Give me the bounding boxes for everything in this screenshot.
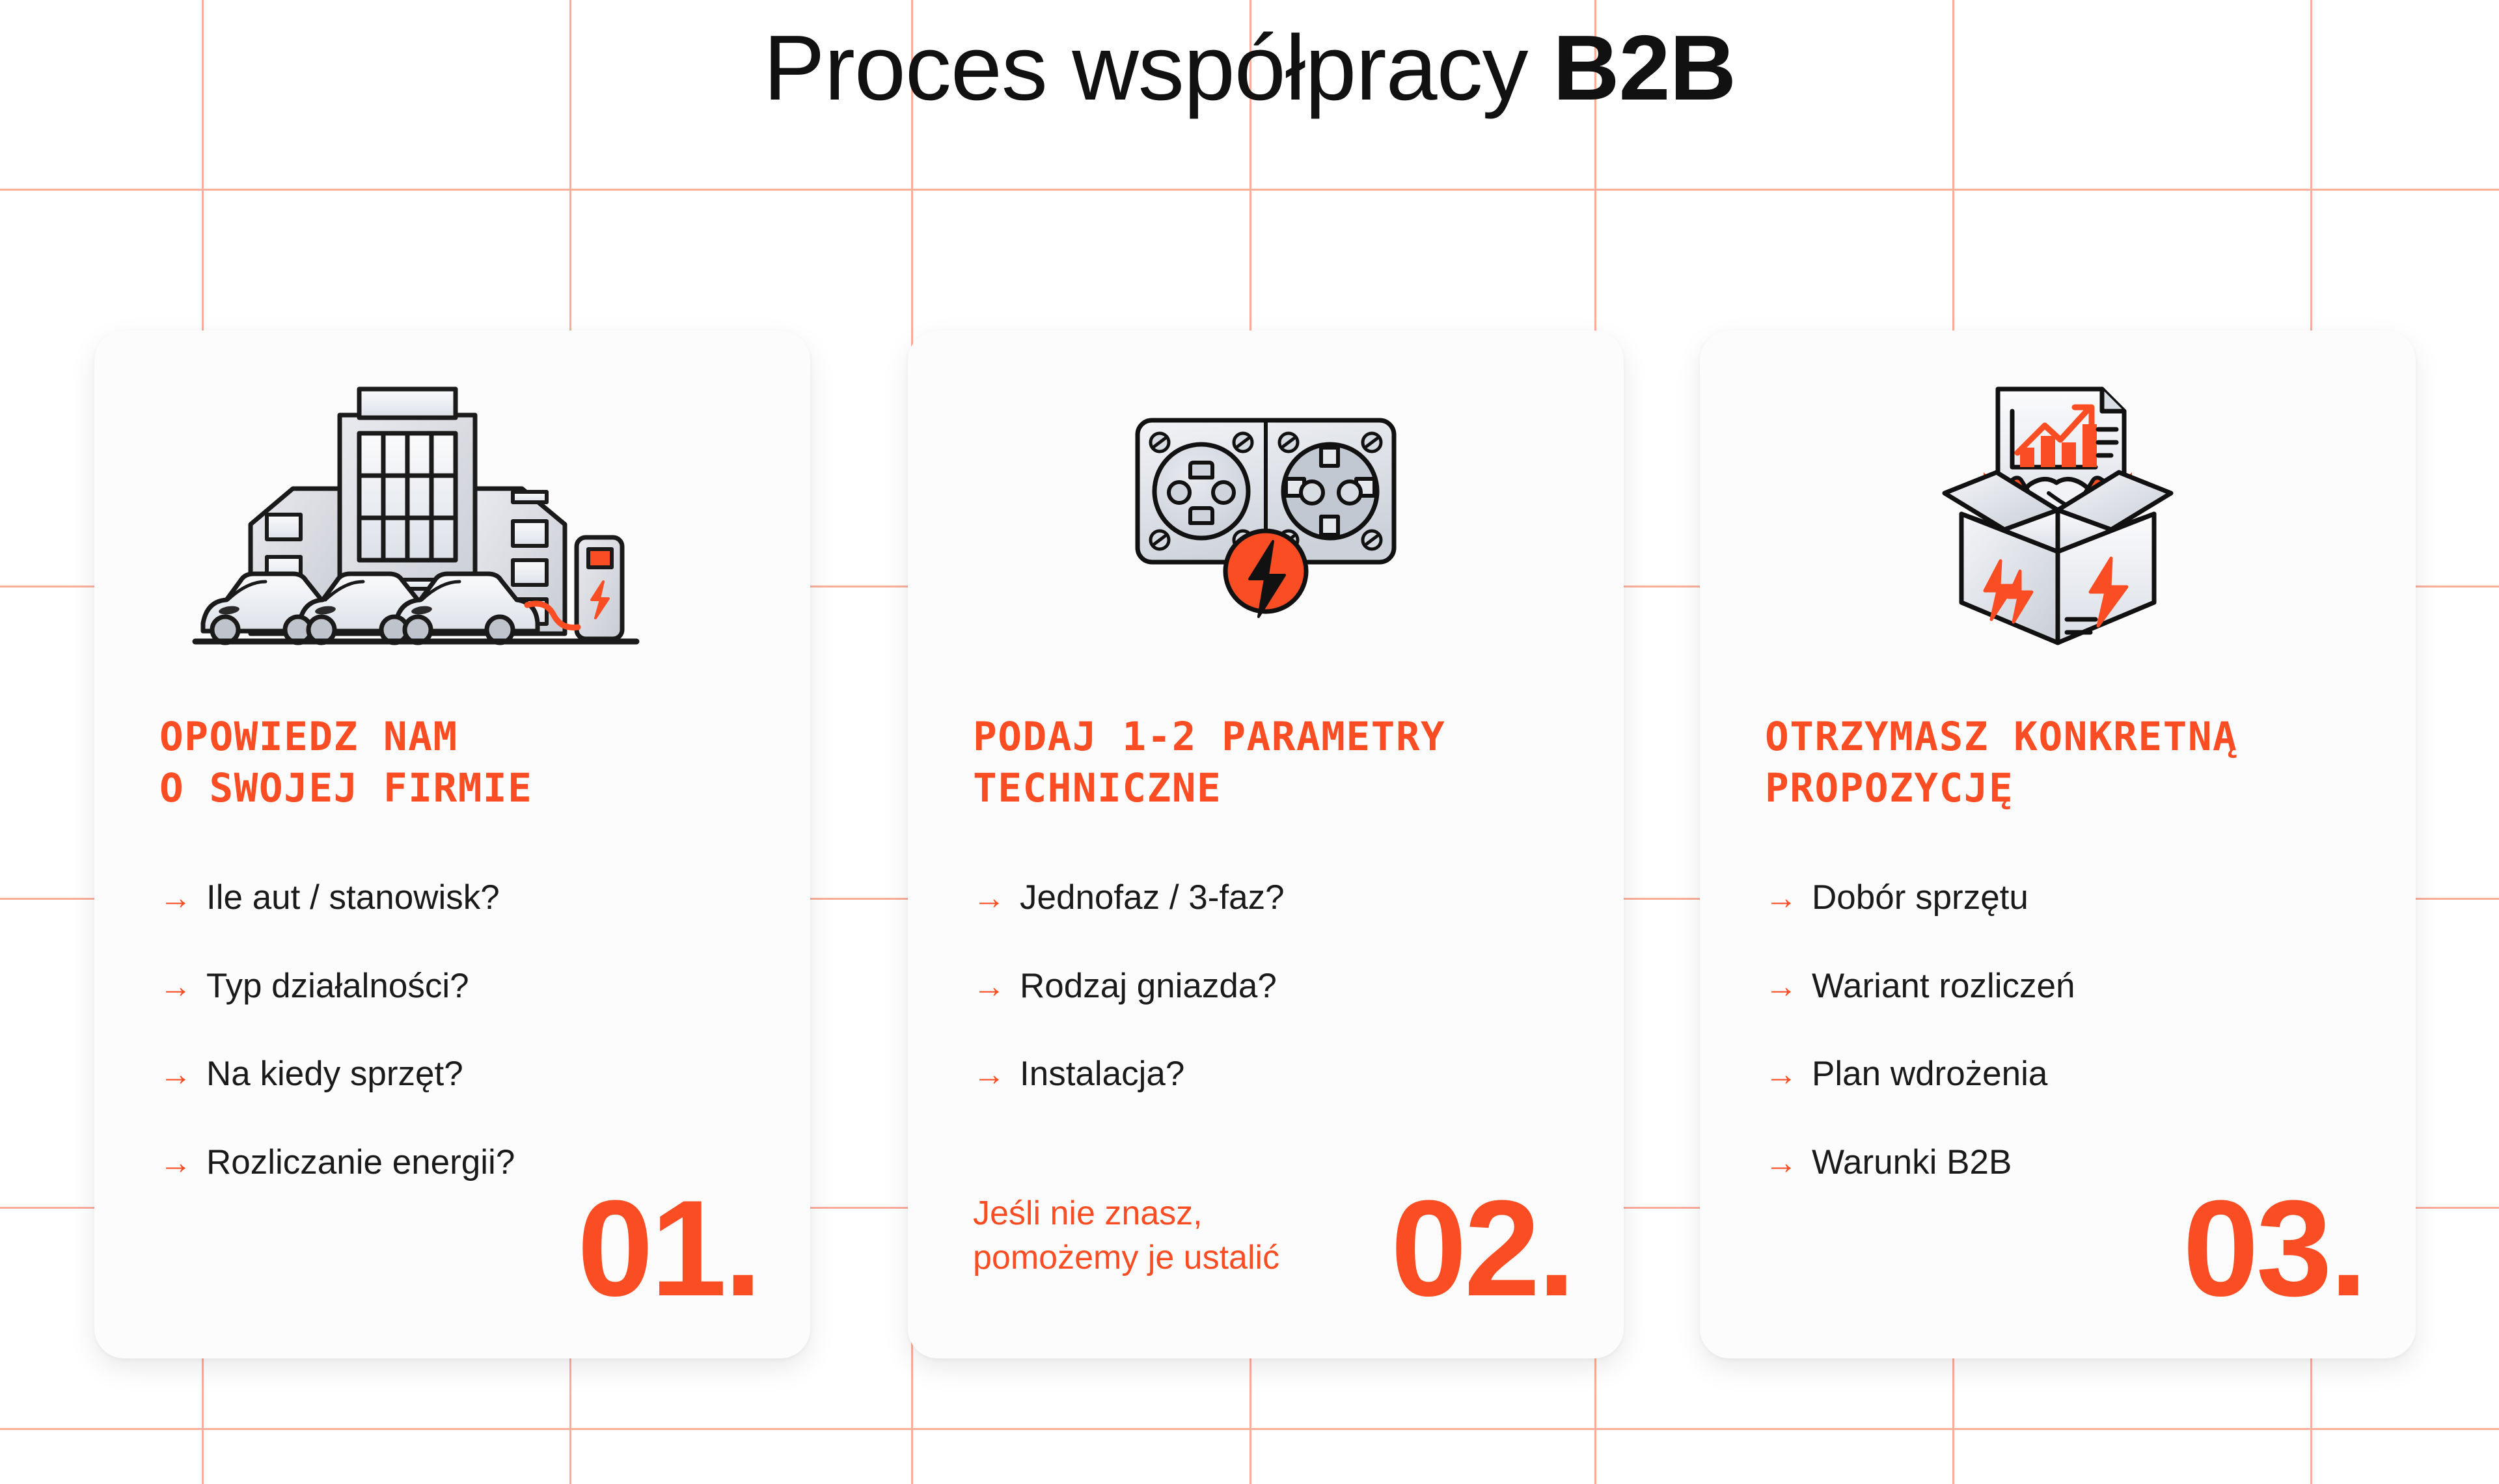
illustration-open-box (1700, 362, 2416, 668)
list-item: →Wariant rozliczeń (1765, 965, 2383, 1007)
grid-line-horizontal (0, 189, 2499, 191)
list-item: →Dobór sprzętu (1765, 877, 2383, 919)
arrow-right-icon: → (973, 1058, 1005, 1090)
list-item-label: Typ działalności? (206, 965, 469, 1007)
arrow-right-icon: → (1765, 1058, 1797, 1090)
list-item-label: Instalacja? (1020, 1053, 1184, 1095)
page-title: Proces współpracy B2B (0, 18, 2499, 118)
double-power-socket-with-lightning-badge-icon (1126, 407, 1406, 622)
list-item-label: Plan wdrożenia (1812, 1053, 2047, 1095)
card-note: Jeśli nie znasz, pomożemy je ustalić (973, 1191, 1279, 1280)
list-item-label: Warunki B2B (1812, 1142, 2012, 1183)
steps-container: OPOWIEDZ NAM O SWOJEJ FIRMIE →Ile aut / … (0, 331, 2499, 1358)
list-item-label: Rozliczanie energii? (206, 1142, 515, 1183)
arrow-right-icon: → (1765, 882, 1797, 914)
card-bullet-list: →Ile aut / stanowisk? →Typ działalności?… (159, 877, 778, 1183)
step-card-02[interactable]: PODAJ 1-2 PARAMETRY TECHNICZNE →Jednofaz… (908, 331, 1624, 1358)
list-item: →Instalacja? (973, 1053, 1591, 1095)
arrow-right-icon: → (1765, 970, 1797, 1003)
page-title-light: Proces współpracy (763, 16, 1553, 120)
card-heading: OTRZYMASZ KONKRETNĄ PROPOZYCJĘ (1765, 711, 2377, 815)
list-item-label: Wariant rozliczeń (1812, 965, 2075, 1007)
arrow-right-icon: → (159, 1058, 192, 1090)
list-item-label: Dobór sprzętu (1812, 877, 2028, 919)
open-box-with-document-chart-and-handshake-icon (1921, 375, 2194, 654)
step-card-03[interactable]: OTRZYMASZ KONKRETNĄ PROPOZYCJĘ →Dobór sp… (1700, 331, 2416, 1358)
grid-line-horizontal (0, 1428, 2499, 1430)
page-title-bold: B2B (1553, 16, 1736, 120)
list-item: →Plan wdrożenia (1765, 1053, 2383, 1095)
list-item-label: Na kiedy sprzęt? (206, 1053, 463, 1095)
list-item: →Typ działalności? (159, 965, 778, 1007)
card-bullet-list: →Jednofaz / 3-faz? →Rodzaj gniazda? →Ins… (973, 877, 1591, 1095)
office-building-with-ev-cars-and-charger-icon (189, 375, 644, 654)
arrow-right-icon: → (159, 882, 192, 914)
list-item: →Rodzaj gniazda? (973, 965, 1591, 1007)
card-heading: PODAJ 1-2 PARAMETRY TECHNICZNE (973, 711, 1585, 815)
step-number: 03. (2183, 1190, 2365, 1308)
step-card-01[interactable]: OPOWIEDZ NAM O SWOJEJ FIRMIE →Ile aut / … (94, 331, 810, 1358)
list-item-label: Rodzaj gniazda? (1020, 965, 1277, 1007)
step-number: 02. (1391, 1190, 1573, 1308)
arrow-right-icon: → (1765, 1146, 1797, 1179)
card-bullet-list: →Dobór sprzętu →Wariant rozliczeń →Plan … (1765, 877, 2383, 1183)
arrow-right-icon: → (973, 970, 1005, 1003)
list-item-label: Ile aut / stanowisk? (206, 877, 500, 919)
list-item: →Jednofaz / 3-faz? (973, 877, 1591, 919)
arrow-right-icon: → (159, 970, 192, 1003)
illustration-office-building (94, 362, 810, 668)
arrow-right-icon: → (973, 882, 1005, 914)
step-number: 01. (577, 1190, 759, 1308)
list-item: →Na kiedy sprzęt? (159, 1053, 778, 1095)
illustration-power-socket (908, 362, 1624, 668)
card-heading: OPOWIEDZ NAM O SWOJEJ FIRMIE (159, 711, 771, 815)
list-item: →Ile aut / stanowisk? (159, 877, 778, 919)
list-item-label: Jednofaz / 3-faz? (1020, 877, 1285, 919)
arrow-right-icon: → (159, 1146, 192, 1179)
